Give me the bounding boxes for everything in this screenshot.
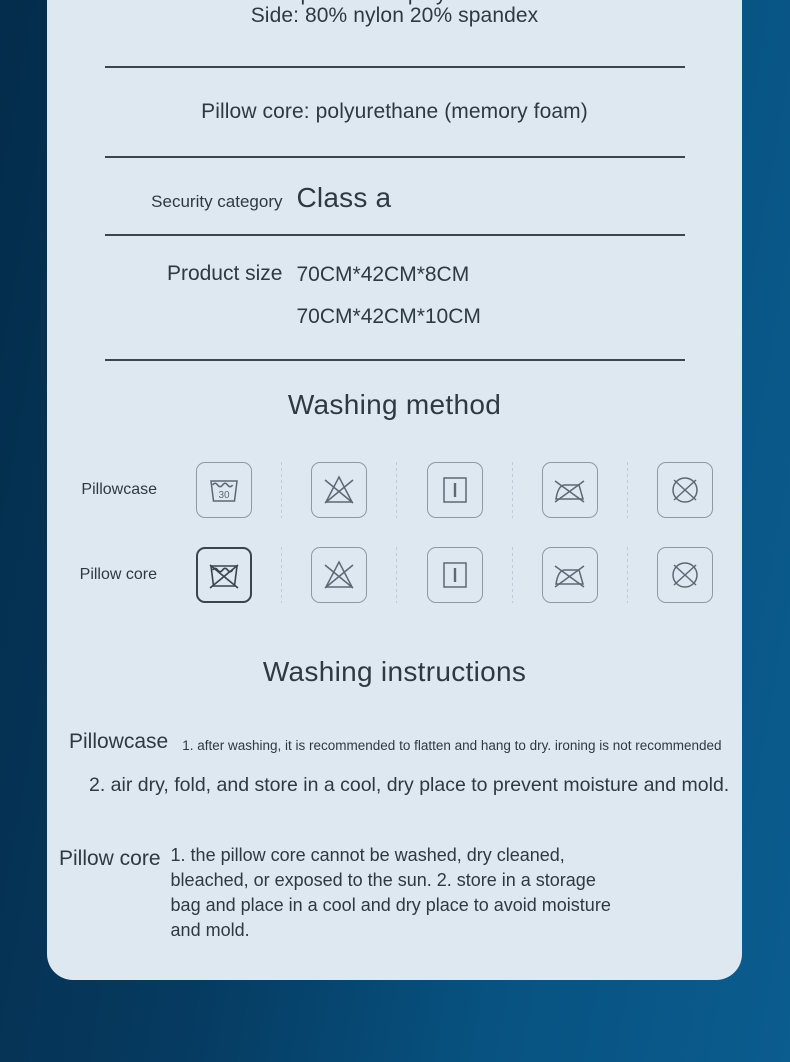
product-size-value-1: 70CM*42CM*8CM <box>297 260 481 290</box>
spec-main-material: Main part: 100% polyester fiber <box>47 0 742 6</box>
symbol-cell <box>282 547 396 603</box>
symbol-cell: 30 <box>167 462 281 518</box>
drip-dry-icon <box>427 462 483 518</box>
row-security-category: Security category Class a <box>105 182 685 214</box>
symbol-cell <box>513 462 627 518</box>
no-bleach-icon <box>311 547 367 603</box>
symbol-row-label-pillowcase: Pillowcase <box>47 481 167 499</box>
do-not-dry-clean-icon <box>657 462 713 518</box>
divider-4 <box>105 359 685 361</box>
product-size-value-2: 70CM*42CM*10CM <box>297 302 481 332</box>
symbol-cells-pillowcase: 30 <box>167 462 742 518</box>
symbol-cell <box>628 547 742 603</box>
svg-text:30: 30 <box>219 490 231 501</box>
drip-dry-icon <box>427 547 483 603</box>
wash-30-icon: 30 <box>196 462 252 518</box>
row-product-size: Product size 70CM*42CM*8CM 70CM*42CM*10C… <box>105 260 685 333</box>
symbol-row-pillowcase: Pillowcase 30 <box>47 455 742 525</box>
security-category-label: Security category <box>105 192 297 212</box>
instruction-pillowcase-line-2: 2. air dry, fold, and store in a cool, d… <box>47 772 742 799</box>
washing-instructions-title: Washing instructions <box>47 656 742 688</box>
instruction-row-pillow-core: Pillow core 1. the pillow core cannot be… <box>47 843 742 942</box>
no-bleach-icon <box>311 462 367 518</box>
symbol-cell <box>282 462 396 518</box>
spec-pillow-core-material: Pillow core: polyurethane (memory foam) <box>47 100 742 124</box>
do-not-iron-icon <box>542 462 598 518</box>
symbol-row-label-pillow-core: Pillow core <box>47 566 167 584</box>
security-category-value: Class a <box>297 182 392 214</box>
instruction-row-pillowcase: Pillowcase 1. after washing, it is recom… <box>47 728 742 756</box>
divider-1 <box>105 66 685 68</box>
instruction-pillowcase-line-1: 1. after washing, it is recommended to f… <box>168 728 721 756</box>
symbol-cells-pillow-core <box>167 547 742 603</box>
do-not-iron-icon <box>542 547 598 603</box>
symbol-cell <box>167 547 281 603</box>
do-not-dry-clean-icon <box>657 547 713 603</box>
symbol-cell <box>397 547 511 603</box>
divider-3 <box>105 234 685 236</box>
symbol-cell <box>513 547 627 603</box>
instruction-label-pillowcase: Pillowcase <box>69 728 168 754</box>
symbol-cell <box>628 462 742 518</box>
do-not-wash-icon <box>196 547 252 603</box>
product-size-label: Product size <box>105 260 297 286</box>
divider-2 <box>105 156 685 158</box>
product-care-card: Main part: 100% polyester fiber Side: 80… <box>47 0 742 980</box>
instruction-label-pillow-core: Pillow core <box>59 843 161 871</box>
instruction-pillow-core-text: 1. the pillow core cannot be washed, dry… <box>161 843 616 942</box>
symbol-cell <box>397 462 511 518</box>
product-size-values: 70CM*42CM*8CM 70CM*42CM*10CM <box>297 260 481 333</box>
spec-side-material: Side: 80% nylon 20% spandex <box>47 4 742 28</box>
symbol-row-pillow-core: Pillow core <box>47 540 742 610</box>
washing-method-title: Washing method <box>47 389 742 421</box>
card-content: Main part: 100% polyester fiber Side: 80… <box>47 0 742 943</box>
